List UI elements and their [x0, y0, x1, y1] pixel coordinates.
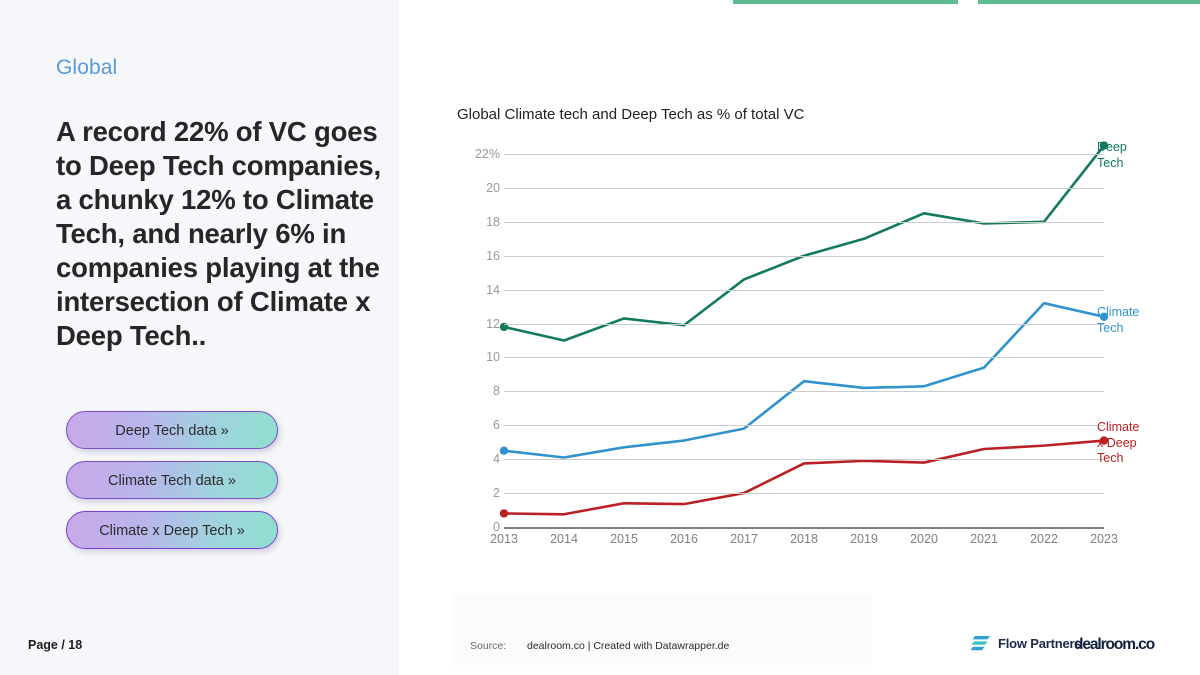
gridline — [504, 290, 1104, 291]
sidebar-panel: Global A record 22% of VC goes to Deep T… — [0, 0, 399, 675]
climate-tech-data-button[interactable]: Climate Tech data » — [66, 461, 278, 499]
y-axis-tick-label: 6 — [440, 418, 500, 432]
flow-partners-logo: Flow Partners — [971, 635, 1081, 652]
y-axis-tick-label: 14 — [440, 283, 500, 297]
series-label-deep-tech: Deep Tech — [1097, 140, 1127, 171]
y-axis-tick-label: 22% — [440, 147, 500, 161]
chart-series-lines — [504, 154, 1104, 527]
series-label-climate-tech: Climate Tech — [1097, 305, 1139, 336]
y-axis-tick-label: 4 — [440, 452, 500, 466]
x-axis-tick-label: 2021 — [970, 532, 998, 546]
x-axis-tick-label: 2016 — [670, 532, 698, 546]
source-box — [452, 595, 872, 665]
x-axis-tick-label: 2020 — [910, 532, 938, 546]
gridline — [504, 425, 1104, 426]
gridline — [504, 188, 1104, 189]
y-axis-tick-label: 20 — [440, 181, 500, 195]
y-axis-tick-label: 8 — [440, 384, 500, 398]
series-endpoint-dot — [500, 447, 508, 455]
sidebar-headline: A record 22% of VC goes to Deep Tech com… — [56, 115, 386, 353]
x-axis-tick-label: 2013 — [490, 532, 518, 546]
series-endpoint-dot — [500, 509, 508, 517]
y-axis-tick-label: 2 — [440, 486, 500, 500]
top-accent-bar-right — [978, 0, 1200, 4]
top-accent-bar-left — [733, 0, 958, 4]
gridline — [504, 493, 1104, 494]
x-axis-tick-label: 2014 — [550, 532, 578, 546]
x-axis-tick-label: 2019 — [850, 532, 878, 546]
y-axis-tick-label: 10 — [440, 350, 500, 364]
source-label: Source: — [470, 640, 506, 652]
series-label-climate-x-deep-tech: Climate x Deep Tech — [1097, 420, 1139, 467]
chart-plot-area: 0246810121416182022%20132014201520162017… — [504, 154, 1104, 527]
x-axis-tick-label: 2015 — [610, 532, 638, 546]
deep-tech-data-button[interactable]: Deep Tech data » — [66, 411, 278, 449]
x-axis-tick-label: 2022 — [1030, 532, 1058, 546]
gridline — [504, 222, 1104, 223]
chart-title: Global Climate tech and Deep Tech as % o… — [457, 106, 804, 123]
series-line — [504, 303, 1104, 457]
x-axis-tick-label: 2023 — [1090, 532, 1118, 546]
chart-card: Global Climate tech and Deep Tech as % o… — [452, 88, 1124, 568]
page-number-label: Page / 18 — [28, 638, 82, 652]
sidebar-kicker: Global — [56, 56, 117, 80]
gridline — [504, 154, 1104, 155]
y-axis-tick-label: 16 — [440, 249, 500, 263]
source-text[interactable]: dealroom.co | Created with Datawrapper.d… — [527, 640, 729, 652]
flow-partners-name: Flow Partners — [998, 636, 1081, 651]
flow-mark-icon — [971, 635, 991, 652]
x-axis-line — [504, 527, 1104, 529]
gridline — [504, 324, 1104, 325]
gridline — [504, 459, 1104, 460]
sidebar-button-stack: Deep Tech data » Climate Tech data » Cli… — [66, 411, 278, 561]
x-axis-tick-label: 2017 — [730, 532, 758, 546]
x-axis-tick-label: 2018 — [790, 532, 818, 546]
climate-x-deep-tech-button[interactable]: Climate x Deep Tech » — [66, 511, 278, 549]
gridline — [504, 391, 1104, 392]
dealroom-logo: dealroom.co — [1074, 636, 1154, 654]
y-axis-tick-label: 18 — [440, 215, 500, 229]
gridline — [504, 256, 1104, 257]
y-axis-tick-label: 12 — [440, 317, 500, 331]
gridline — [504, 357, 1104, 358]
series-line — [504, 146, 1104, 341]
